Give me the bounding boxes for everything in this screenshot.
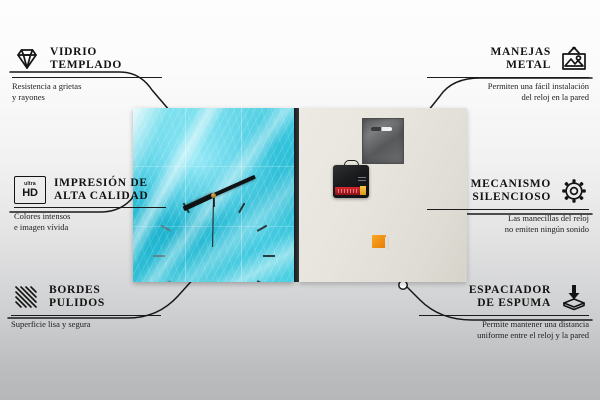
feature-silent-mechanism: MECANISMO SILENCIOSO Las manecillas del … xyxy=(427,176,589,235)
ultra-hd-icon-large-label: HD xyxy=(22,188,38,199)
feature-description: Las manecillas del reloj no emiten ningú… xyxy=(427,213,589,235)
feature-rule xyxy=(12,77,162,78)
feature-tempered-glass: VIDRIO TEMPLADO Resistencia a grietas y … xyxy=(12,44,162,103)
clock-minute-hand xyxy=(213,175,256,197)
mechanism-body xyxy=(333,165,369,198)
ultra-hd-icon: ultra HD xyxy=(14,176,46,204)
mechanism-label xyxy=(358,177,366,183)
metal-hanger-plate xyxy=(362,118,404,164)
foam-spacer-pad xyxy=(372,235,386,248)
diamond-icon xyxy=(12,44,42,74)
clock-tick xyxy=(263,255,275,257)
feature-hd-print: ultra HD IMPRESIÓN DE ALTA CALIDAD Color… xyxy=(14,176,166,233)
feature-polished-edges: BORDES PULIDOS Superficie lisa y segura xyxy=(11,282,161,330)
clock-tick xyxy=(256,225,267,232)
hanger-slot xyxy=(371,127,392,131)
feature-rule xyxy=(427,209,589,210)
feature-title: ESPACIADOR DE ESPUMA xyxy=(469,284,551,311)
feature-title: MANEJAS METAL xyxy=(491,46,552,73)
feature-title: IMPRESIÓN DE ALTA CALIDAD xyxy=(54,177,148,204)
feature-metal-handles: MANEJAS METAL Permiten una fácil instala… xyxy=(427,44,589,103)
feature-rule xyxy=(427,77,589,78)
connector-dot-foam-spacer xyxy=(399,281,407,289)
gear-icon xyxy=(559,176,589,206)
feature-description: Resistencia a grietas y rayones xyxy=(12,81,162,103)
feature-rule xyxy=(14,207,166,208)
feature-foam-spacer: ESPACIADOR DE ESPUMA Permite mantener un… xyxy=(419,282,589,341)
battery-contact xyxy=(360,186,366,195)
clock-center-cap xyxy=(211,193,216,198)
battery xyxy=(335,187,360,195)
feature-description: Superficie lisa y segura xyxy=(11,319,161,330)
clock-hour-hand xyxy=(183,193,215,211)
beveled-edge-icon xyxy=(11,282,41,312)
clock-tick xyxy=(153,255,165,257)
clock-tick xyxy=(256,280,267,282)
arrow-down-onto-pad-icon xyxy=(559,282,589,312)
clock-tick xyxy=(238,203,245,214)
feature-title: MECANISMO SILENCIOSO xyxy=(471,178,551,205)
feature-rule xyxy=(11,315,161,316)
feature-title: VIDRIO TEMPLADO xyxy=(50,46,122,73)
wall-hanging-frame-icon xyxy=(559,44,589,74)
product-image xyxy=(133,108,467,282)
quartz-mechanism xyxy=(333,165,369,198)
clock-second-hand xyxy=(212,195,214,247)
feature-rule xyxy=(419,315,589,316)
feature-description: Colores intensos e imagen vívida xyxy=(14,211,166,233)
feature-title: BORDES PULIDOS xyxy=(49,284,105,311)
feature-description: Permiten una fácil instalación del reloj… xyxy=(427,81,589,103)
feature-description: Permite mantener una distancia uniforme … xyxy=(419,319,589,341)
clock-tick xyxy=(160,280,171,282)
product-infographic: VIDRIO TEMPLADO Resistencia a grietas y … xyxy=(0,0,600,400)
ultra-hd-icon-small-label: ultra xyxy=(24,182,36,187)
